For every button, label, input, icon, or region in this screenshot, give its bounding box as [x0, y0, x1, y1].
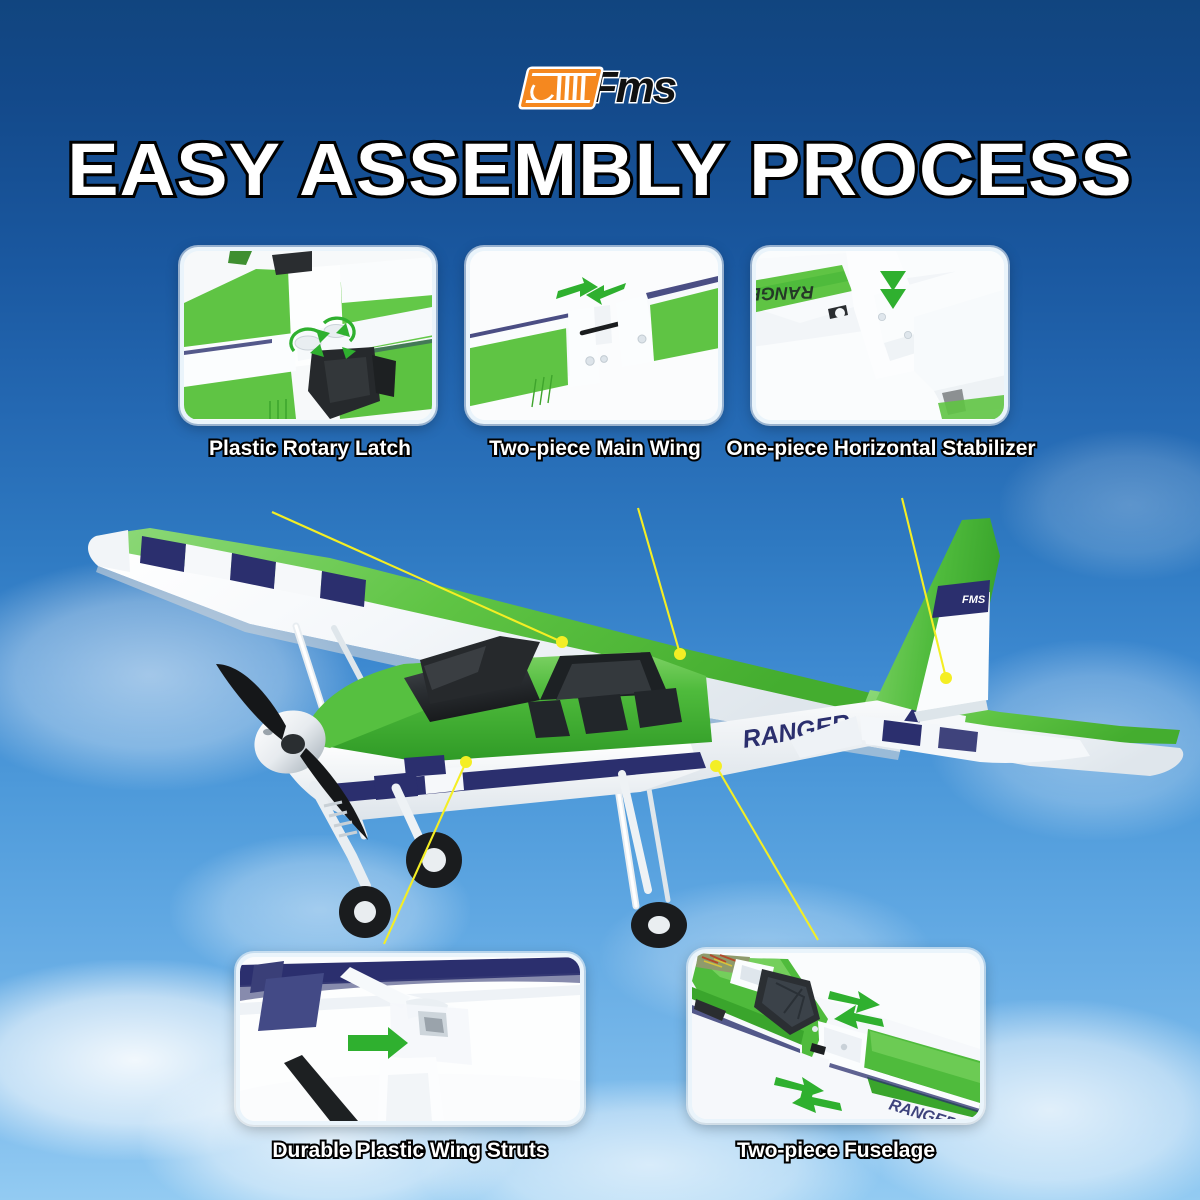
- fms-swoosh-icon: [520, 69, 601, 107]
- thumbnail-image-main-wing: [470, 251, 718, 420]
- feature-caption-two-piece-fuselage: Two-piece Fuselage: [680, 1138, 992, 1164]
- thumbnail-image-horizontal-stabilizer: RANGER: [756, 251, 1004, 420]
- feature-caption-two-piece-main-wing: Two-piece Main Wing: [440, 436, 750, 462]
- feature-thumbnail-two-piece-fuselage[interactable]: RANGER: [688, 949, 984, 1123]
- svg-text:RANGER: RANGER: [756, 282, 814, 305]
- thumbnail-image-wing-struts: [240, 957, 580, 1121]
- feature-caption-one-piece-horizontal-stabilizer: One-piece Horizontal Stabilizer: [726, 436, 1036, 462]
- thumbnail-image-two-piece-fuselage: RANGER: [692, 953, 980, 1119]
- feature-thumbnail-plastic-rotary-latch[interactable]: [180, 247, 436, 424]
- feature-thumbnail-durable-plastic-wing-struts[interactable]: [236, 953, 584, 1125]
- brand-logo: Fms: [0, 62, 1200, 114]
- feature-caption-durable-plastic-wing-struts: Durable Plastic Wing Struts: [230, 1138, 590, 1164]
- tail-decal: FMS: [962, 594, 986, 606]
- feature-caption-plastic-rotary-latch: Plastic Rotary Latch: [155, 436, 465, 462]
- feature-thumbnail-two-piece-main-wing[interactable]: [466, 247, 722, 424]
- brand-logo-text: Fms: [591, 66, 675, 110]
- thumbnail-image-rotary-latch: [184, 251, 432, 420]
- page-title: EASY ASSEMBLY PROCESS: [0, 133, 1200, 207]
- feature-thumbnail-one-piece-horizontal-stabilizer[interactable]: RANGER: [752, 247, 1008, 424]
